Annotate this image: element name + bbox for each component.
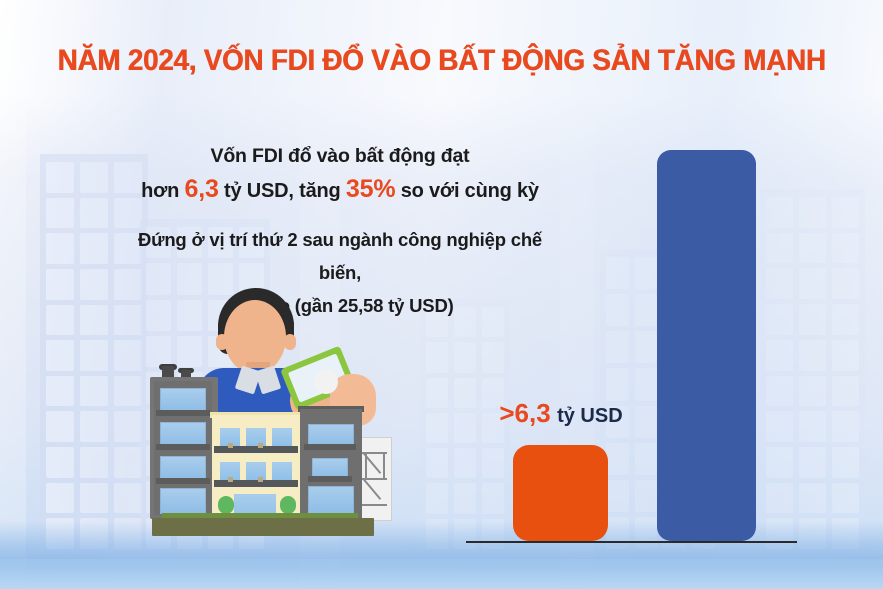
window-right-1 — [308, 424, 354, 446]
paragraph-1-line-1: Vốn FDI đổ vào bất động đạt — [118, 140, 562, 173]
bar-label-unit: tỷ USD — [557, 405, 623, 427]
bar-label-prefix: > — [499, 398, 514, 428]
baluster-1a — [228, 443, 233, 448]
window-left-1 — [160, 388, 206, 412]
paragraph-2-line-1: Đứng ở vị trí thứ 2 sau ngành công nghiệ… — [118, 223, 562, 289]
person-ear-right — [284, 334, 296, 350]
window-left-3 — [160, 456, 206, 480]
highlight-value-63: 6,3 — [185, 175, 219, 203]
infographic-poster: NĂM 2024, VỐN FDI ĐỔ VÀO BẤT ĐỘNG SẢN TĂ… — [0, 0, 883, 589]
balcony-2 — [214, 480, 298, 487]
coin-icon — [314, 370, 338, 394]
p1-l2-post: so với cùng kỳ — [395, 180, 539, 202]
ledge-left-2 — [156, 444, 210, 450]
window-left-2 — [160, 422, 206, 446]
baluster-2b — [258, 477, 263, 482]
window-centre-2b — [246, 462, 266, 480]
window-right-2 — [312, 458, 348, 478]
window-centre-2c — [272, 462, 292, 480]
ground-base — [152, 518, 374, 536]
bar-label-value: 6,3 — [515, 398, 551, 428]
p1-l2-pre: hơn — [141, 180, 184, 202]
window-right-3 — [308, 486, 354, 514]
baluster-2a — [228, 477, 233, 482]
page-title: NĂM 2024, VỐN FDI ĐỔ VÀO BẤT ĐỘNG SẢN TĂ… — [31, 44, 852, 78]
ledge-left-3 — [156, 478, 210, 484]
scaffolding — [358, 437, 392, 521]
chart-baseline — [466, 541, 797, 543]
ledge-right-2 — [308, 476, 352, 482]
bottom-blue-band-lower — [0, 559, 883, 589]
illustration-real-estate-investor — [140, 282, 390, 548]
window-centre-1c — [272, 428, 292, 446]
ledge-left-1 — [156, 410, 210, 416]
balcony-1 — [214, 446, 298, 453]
bar-real-estate — [513, 445, 608, 541]
bar-value-label: >6,3 tỷ USD — [466, 398, 656, 429]
person-ear-left — [216, 334, 228, 350]
highlight-value-35pct: 35% — [346, 175, 395, 203]
bar-manufacturing — [657, 150, 756, 541]
ledge-right-1 — [304, 444, 356, 450]
paragraph-1: Vốn FDI đổ vào bất động đạt hơn 6,3 tỷ U… — [118, 140, 562, 208]
baluster-1b — [258, 443, 263, 448]
p1-l2-mid: tỷ USD, tăng — [219, 180, 346, 202]
paragraph-1-line-2: hơn 6,3 tỷ USD, tăng 35% so với cùng kỳ — [118, 173, 562, 208]
window-centre-1b — [246, 428, 266, 446]
window-left-4 — [160, 488, 206, 514]
